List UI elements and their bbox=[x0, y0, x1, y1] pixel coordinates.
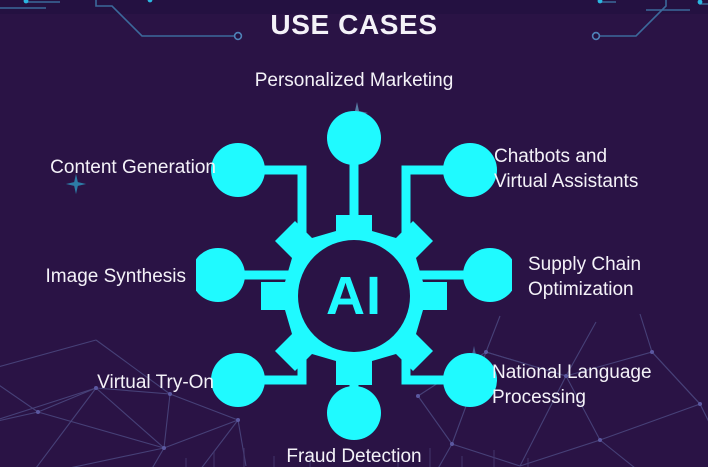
node-content-generation[interactable] bbox=[211, 143, 265, 197]
node-fraud-detection[interactable] bbox=[327, 386, 381, 440]
node-chatbots[interactable] bbox=[443, 143, 497, 197]
label-virtual-try-on: Virtual Try-On bbox=[0, 370, 214, 395]
node-image-synthesis[interactable] bbox=[196, 248, 245, 302]
label-personalized-marketing: Personalized Marketing bbox=[178, 68, 530, 93]
node-virtual-try-on[interactable] bbox=[211, 353, 265, 407]
label-image-synthesis: Image Synthesis bbox=[0, 264, 186, 289]
node-supply-chain[interactable] bbox=[463, 248, 512, 302]
label-chatbots-virtual-assistants: Chatbots and Virtual Assistants bbox=[494, 144, 708, 195]
label-fraud-detection: Fraud Detection bbox=[198, 444, 510, 467]
node-nlp[interactable] bbox=[443, 353, 497, 407]
page-title: USE CASES bbox=[0, 9, 708, 41]
hub-center-label: AI bbox=[326, 266, 382, 326]
label-supply-chain-optimization: Supply Chain Optimization bbox=[528, 252, 708, 303]
node-personalized-marketing[interactable] bbox=[327, 111, 381, 165]
ai-hub-diagram: AI bbox=[196, 108, 512, 442]
label-national-language-processing: National Language Processing bbox=[492, 360, 708, 411]
infographic-poster: USE CASES bbox=[0, 0, 708, 467]
label-content-generation: Content Generation bbox=[0, 155, 216, 180]
